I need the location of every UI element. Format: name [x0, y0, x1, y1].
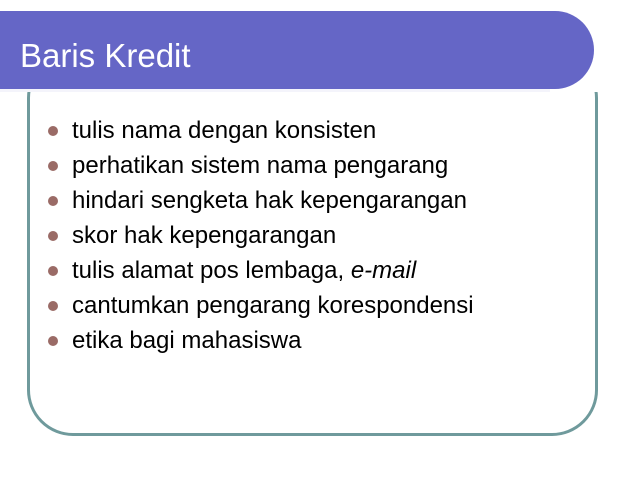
- bullet-dot-icon: [48, 126, 58, 136]
- bullet-dot-icon: [48, 336, 58, 346]
- list-item-text: cantumkan pengarang korespondensi: [72, 292, 474, 319]
- list-item-text: tulis alamat pos lembaga,: [72, 257, 351, 284]
- list-item-label: hindari sengketa hak kepengarangan: [72, 187, 467, 215]
- title-underline: [0, 89, 550, 92]
- presentation-slide: Baris Kredit tulis nama dengan konsisten…: [0, 0, 638, 479]
- list-item: hindari sengketa hak kepengarangan: [44, 183, 564, 218]
- list-item-text: hindari sengketa hak kepengarangan: [72, 187, 467, 214]
- list-item-text: skor hak kepengarangan: [72, 222, 336, 249]
- bullet-list: tulis nama dengan konsistenperhatikan si…: [44, 113, 564, 358]
- page-title: Baris Kredit: [20, 37, 191, 75]
- list-item: etika bagi mahasiswa: [44, 323, 564, 358]
- list-item-label: tulis alamat pos lembaga, e-mail: [72, 257, 416, 285]
- list-item: tulis alamat pos lembaga, e-mail: [44, 253, 564, 288]
- list-item-text: tulis nama dengan konsisten: [72, 117, 376, 144]
- bullet-dot-icon: [48, 301, 58, 311]
- list-item: skor hak kepengarangan: [44, 218, 564, 253]
- list-item: perhatikan sistem nama pengarang: [44, 148, 564, 183]
- list-item-label: cantumkan pengarang korespondensi: [72, 292, 474, 320]
- list-item-text: perhatikan sistem nama pengarang: [72, 152, 448, 179]
- list-item-label: tulis nama dengan konsisten: [72, 117, 376, 145]
- list-item-text: etika bagi mahasiswa: [72, 327, 301, 354]
- list-item-label: skor hak kepengarangan: [72, 222, 336, 250]
- list-item-label: etika bagi mahasiswa: [72, 327, 301, 355]
- list-item-label: perhatikan sistem nama pengarang: [72, 152, 448, 180]
- bullet-dot-icon: [48, 266, 58, 276]
- list-item: tulis nama dengan konsisten: [44, 113, 564, 148]
- list-item-emphasis: e-mail: [351, 257, 416, 284]
- bullet-dot-icon: [48, 196, 58, 206]
- list-item: cantumkan pengarang korespondensi: [44, 288, 564, 323]
- bullet-dot-icon: [48, 231, 58, 241]
- bullet-dot-icon: [48, 161, 58, 171]
